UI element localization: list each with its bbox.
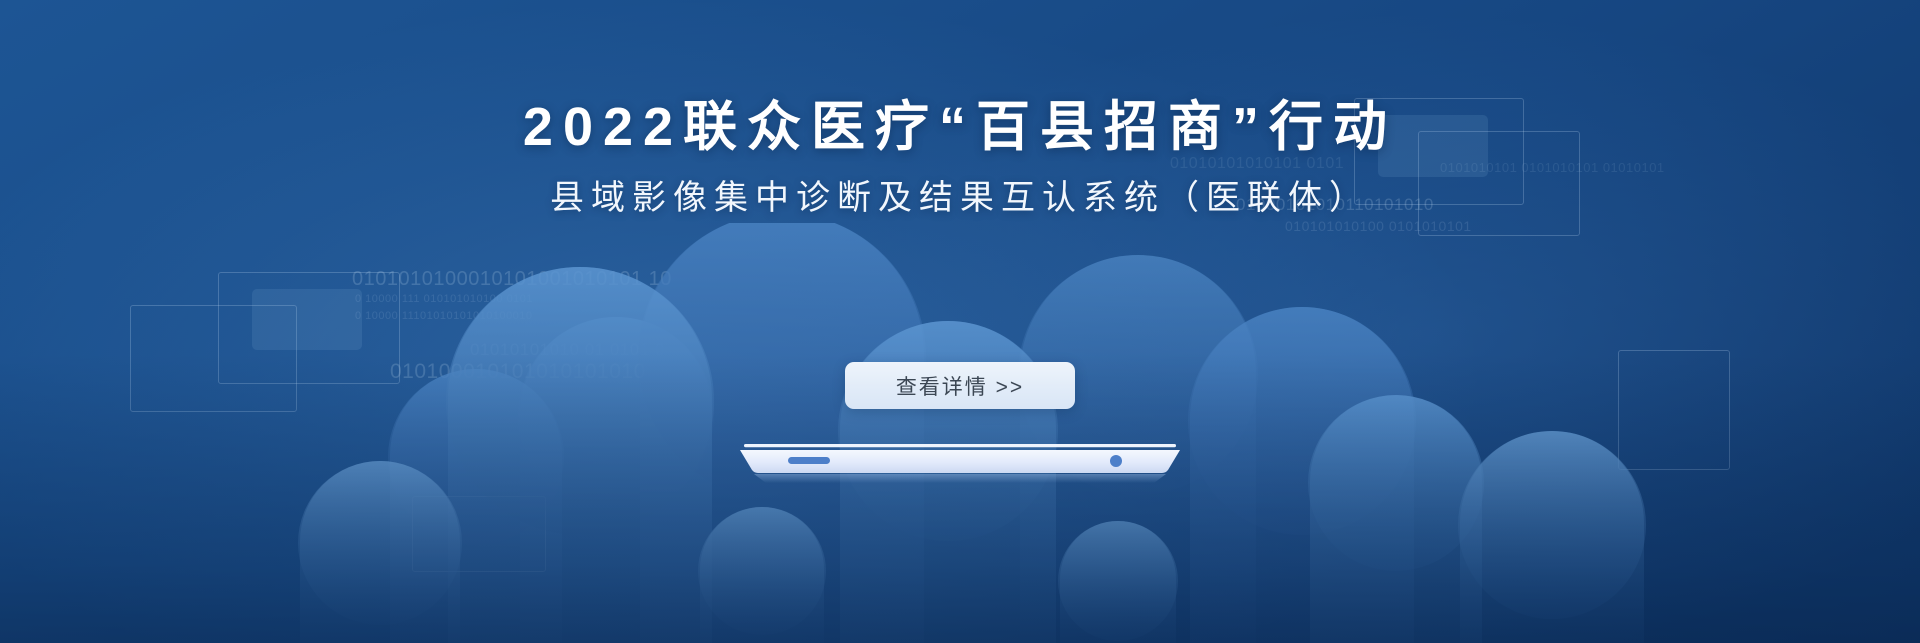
decorative-rectangle-left-upper: [218, 272, 400, 384]
speaker-grille: [788, 457, 830, 464]
binary-text-decoration: 010101010100 0101010101: [1285, 218, 1472, 234]
view-details-button[interactable]: 查看详情 >>: [845, 362, 1075, 409]
cloud-layer-near: [298, 431, 1646, 643]
binary-text-decoration: 0101010101 0101010101 01010101: [1440, 160, 1665, 175]
binary-text-decoration: 0101010100010101001010101 10: [352, 268, 672, 291]
device-lid-edge: [744, 444, 1176, 447]
decorative-rectangle-far-right: [1618, 350, 1730, 470]
binary-text-decoration: 01000101010110101010: [1236, 195, 1434, 215]
decorative-rectangle-right-lower: [1418, 131, 1580, 236]
camera-dot: [1110, 455, 1122, 467]
cloud-layer-front: [446, 267, 1484, 643]
banner-title: 2022联众医疗“百县招商”行动: [0, 0, 1920, 157]
decorative-rectangle-bottom-left: [412, 496, 546, 572]
bottom-vignette: [0, 0, 1920, 643]
headline-block: 2022联众医疗“百县招商”行动 县域影像集中诊断及结果互认系统（医联体）: [0, 0, 1920, 218]
promo-banner: 0101010100010101001010101 10 0 10000 111…: [0, 0, 1920, 643]
device-base: [740, 450, 1180, 473]
background-glow-left: [0, 0, 1920, 643]
decorative-filled-rectangle-left: [252, 289, 362, 350]
device-reflection: [754, 474, 1166, 483]
decorative-rectangle-left-lower: [130, 305, 297, 412]
background-glow-right: [0, 0, 1920, 643]
binary-text-decoration: 0 10000 11101010101010100010: [355, 310, 533, 322]
device-illustration: [740, 440, 1180, 486]
cloud-illustration: [0, 223, 1920, 643]
decorative-filled-rectangle-right: [1378, 115, 1488, 177]
cloud-layer-mid: [388, 223, 1416, 643]
binary-text-decoration: 0 10000 111 010101010100 0101: [355, 293, 533, 305]
cloud-layer-back: [518, 255, 1258, 643]
binary-text-decoration: 01010101010 01 0101 0: [470, 340, 665, 360]
binary-text-decoration: 01010101010101 0101: [1170, 155, 1344, 173]
banner-subtitle: 县域影像集中诊断及结果互认系统（医联体）: [0, 157, 1920, 218]
binary-text-decoration: 010100010101010101010: [390, 360, 646, 384]
decorative-rectangle-right-upper: [1354, 98, 1524, 205]
